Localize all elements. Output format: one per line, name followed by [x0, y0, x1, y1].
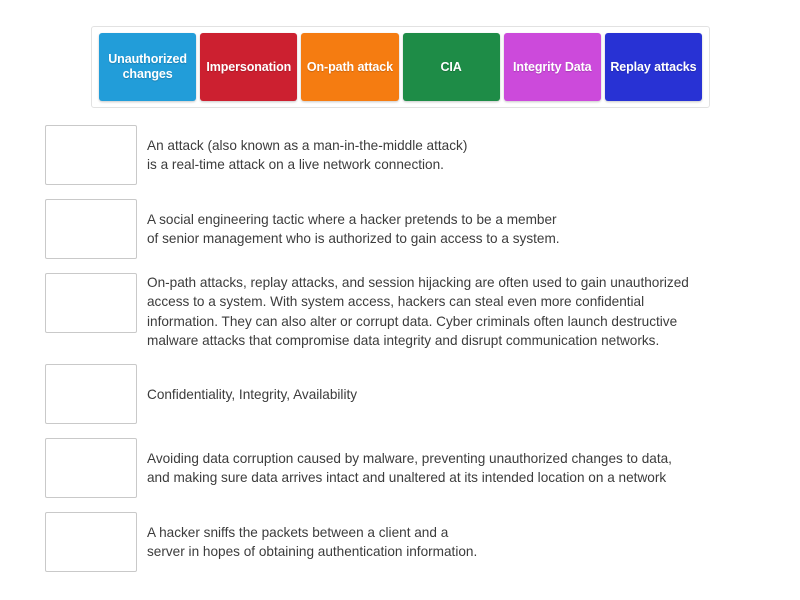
definition-text: An attack (also known as a man-in-the-mi… — [147, 136, 775, 175]
definition-row: A social engineering tactic where a hack… — [45, 199, 775, 259]
drop-zone-6[interactable] — [45, 512, 137, 572]
answer-tile-1[interactable]: Unauthorized changes — [99, 33, 196, 101]
definition-row: An attack (also known as a man-in-the-mi… — [45, 125, 775, 185]
definition-row: Confidentiality, Integrity, Availability — [45, 364, 775, 424]
definition-text: Avoiding data corruption caused by malwa… — [147, 449, 775, 488]
answer-tile-6[interactable]: Replay attacks — [605, 33, 702, 101]
definition-text: Confidentiality, Integrity, Availability — [147, 385, 775, 404]
definition-row: On-path attacks, replay attacks, and ses… — [45, 273, 775, 350]
answer-tile-4[interactable]: CIA — [403, 33, 500, 101]
drop-zone-2[interactable] — [45, 199, 137, 259]
definition-text: On-path attacks, replay attacks, and ses… — [147, 273, 775, 350]
definition-row: A hacker sniffs the packets between a cl… — [45, 512, 775, 572]
answer-tile-tray: Unauthorized changesImpersonationOn-path… — [91, 26, 710, 108]
answer-tile-2[interactable]: Impersonation — [200, 33, 297, 101]
definition-row-list: An attack (also known as a man-in-the-mi… — [45, 125, 775, 586]
definition-row: Avoiding data corruption caused by malwa… — [45, 438, 775, 498]
drop-zone-3[interactable] — [45, 273, 137, 333]
drop-zone-5[interactable] — [45, 438, 137, 498]
answer-tile-3[interactable]: On-path attack — [301, 33, 398, 101]
drop-zone-1[interactable] — [45, 125, 137, 185]
definition-text: A social engineering tactic where a hack… — [147, 210, 775, 249]
drop-zone-4[interactable] — [45, 364, 137, 424]
definition-text: A hacker sniffs the packets between a cl… — [147, 523, 775, 562]
answer-tile-5[interactable]: Integrity Data — [504, 33, 601, 101]
